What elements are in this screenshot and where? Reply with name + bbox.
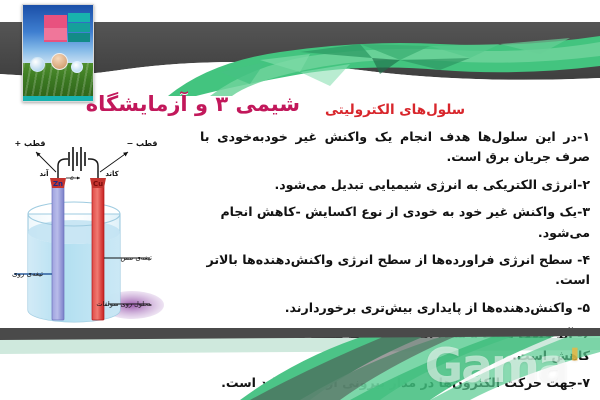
slide-root: شیمی ۳ و آزمایشگاه سلول‌های الکترولیتی ۱…: [0, 0, 600, 400]
zinc-plate-label: تیغه‌ی روی: [12, 270, 43, 278]
positive-pole-label: قطب +: [15, 139, 46, 148]
cell-diagram-svg: Zn Cu e: [0, 128, 205, 338]
wire-left: [58, 159, 68, 178]
positive-pole-leader: [36, 152, 56, 172]
anode-label: آند: [39, 169, 49, 178]
solution-label: محلول روی سولفات: [96, 300, 152, 308]
footer-wave-graphic: [0, 328, 600, 400]
section-title: سلول‌های الکترولیتی: [200, 102, 590, 118]
list-item: ۲-انرژی الکتریکی به انرژی شیمیایی تبدیل …: [200, 175, 590, 195]
electron-label: e: [70, 175, 74, 182]
negative-pole-label: قطب −: [127, 139, 158, 148]
cover-banner: [44, 13, 90, 47]
footer-decoration: Gama': [0, 328, 600, 400]
list-item: ۵- واکنش‌دهنده‌ها از پایداری بیش‌تری برخ…: [200, 298, 590, 318]
wire-right: [88, 159, 98, 178]
cathode-label: کاتد: [105, 170, 119, 178]
copper-symbol-label: Cu: [93, 180, 103, 188]
electrolytic-cell-diagram: Zn Cu e: [0, 128, 205, 338]
cover-banner-teal2: [68, 23, 90, 32]
cover-banner-teal1: [68, 13, 90, 22]
cover-bubble-1: [30, 57, 45, 72]
battery-symbol: [69, 147, 85, 171]
negative-pole-leader: [100, 152, 128, 172]
zinc-electrode: [52, 186, 64, 320]
solution-surface: [28, 220, 120, 244]
zinc-symbol-label: Zn: [53, 180, 63, 188]
list-item: ۴- سطح انرژی فراورده‌ها از سطح انرژی واک…: [200, 250, 590, 291]
cover-bottom-bar: [23, 96, 93, 101]
textbook-cover-thumbnail: [22, 4, 94, 102]
cover-bubble-2: [71, 61, 83, 73]
list-item: ۳-یک واکنش غیر خود به خودی از نوع اکسایش…: [200, 202, 590, 243]
cover-portrait-bubble: [51, 53, 68, 70]
cover-banner-teal3: [68, 33, 90, 42]
copper-plate-label: تیغه‌ی مس: [120, 254, 152, 262]
cover-banner-pink2: [44, 28, 67, 40]
list-item: ۱-در این سلول‌ها هدف انجام یک واکنش غیر …: [200, 127, 590, 168]
